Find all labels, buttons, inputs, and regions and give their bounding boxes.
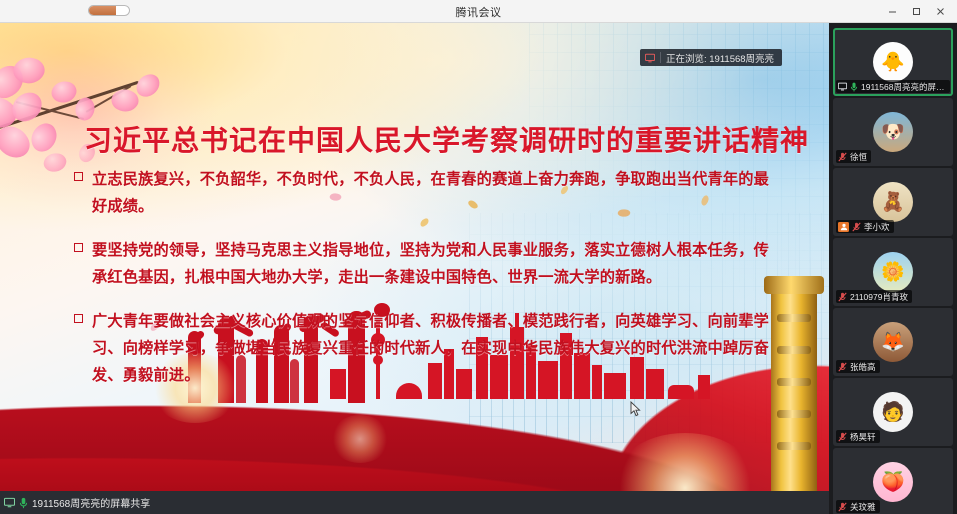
participant-tile[interactable]: 🧸 李小欢 xyxy=(833,168,953,236)
avatar-emoji: 🧸 xyxy=(881,190,905,214)
avatar-emoji: 🍑 xyxy=(881,470,905,494)
participant-tile[interactable]: 🌼 2110979肖青玫 xyxy=(833,238,953,306)
mouse-cursor xyxy=(630,401,641,417)
bottom-taskbar: 1911568周亮亮的屏幕共享 xyxy=(0,491,829,514)
participant-tile[interactable]: 🍑 关玟雅 xyxy=(833,448,953,514)
participant-name: 杨昊轩 xyxy=(850,431,876,443)
avatar-emoji: 🧑 xyxy=(881,400,905,424)
screen-share-icon xyxy=(4,497,15,508)
participant-tile[interactable]: 🦊 张皓高 xyxy=(833,308,953,376)
participant-name: 李小欢 xyxy=(864,221,890,233)
participant-label: 徐恒 xyxy=(836,150,871,163)
maximize-button[interactable] xyxy=(905,1,927,22)
avatar: 🧑 xyxy=(873,392,913,432)
host-badge-icon xyxy=(838,222,849,232)
avatar: 🧸 xyxy=(873,182,913,222)
participant-label: 1911568周亮亮的屏幕共享 xyxy=(836,80,950,93)
mic-muted-icon xyxy=(838,292,847,302)
avatar: 🐥 xyxy=(873,42,913,82)
participant-name: 关玟雅 xyxy=(850,501,876,513)
slide-bullet-text: 要坚持党的领导，坚持马克思主义指导地位，坚持为党和人民事业服务，落实立德树人根本… xyxy=(92,237,780,291)
participant-tile[interactable]: 🐶 徐恒 xyxy=(833,98,953,166)
slide-title: 习近平总书记在中国人民大学考察调研时的重要讲话精神 xyxy=(84,119,784,159)
participant-tile[interactable]: 🧑 杨昊轩 xyxy=(833,378,953,446)
bullet-marker-icon xyxy=(74,243,83,252)
share-status-banner: 正在浏览: 1911568周亮亮 xyxy=(640,49,782,66)
avatar-emoji: 🐶 xyxy=(881,120,905,144)
participant-name: 2110979肖青玫 xyxy=(850,291,908,303)
mic-muted-icon xyxy=(838,432,847,442)
close-button[interactable] xyxy=(929,1,951,22)
mic-on-icon xyxy=(19,497,28,509)
light-glow-decoration xyxy=(330,415,390,463)
avatar: 🦊 xyxy=(873,322,913,362)
bullet-marker-icon xyxy=(74,172,83,181)
avatar: 🌼 xyxy=(873,252,913,292)
taskbar-item-label: 1911568周亮亮的屏幕共享 xyxy=(32,495,150,510)
banner-divider xyxy=(660,52,661,63)
slide-bullet-item: 立志民族复兴，不负韶华，不负时代，不负人民，在青春的赛道上奋力奔跑，争取跑出当代… xyxy=(74,166,780,220)
slide-bullet-text: 广大青年要做社会主义核心价值观的坚定信仰者、积极传播者、模范践行者，向英雄学习、… xyxy=(92,308,780,389)
participant-tile[interactable]: 🐥 1911568周亮亮的屏幕共享 xyxy=(833,28,953,96)
participant-label: 张皓高 xyxy=(836,360,880,373)
window-title: 腾讯会议 xyxy=(0,4,957,20)
participant-label: 2110979肖青玫 xyxy=(836,290,912,303)
window-controls xyxy=(881,0,951,23)
mic-muted-icon xyxy=(852,222,861,232)
mic-muted-icon xyxy=(838,362,847,372)
taskbar-screen-share-item[interactable]: 1911568周亮亮的屏幕共享 xyxy=(0,491,158,514)
avatar-emoji: 🌼 xyxy=(881,260,905,284)
avatar-emoji: 🐥 xyxy=(881,50,905,74)
screen-share-icon xyxy=(838,82,847,91)
avatar-emoji: 🦊 xyxy=(881,330,905,354)
participant-name: 张皓高 xyxy=(850,361,876,373)
participant-label: 关玟雅 xyxy=(836,500,880,513)
mic-on-icon xyxy=(850,82,858,92)
presentation-slide: 习近平总书记在中国人民大学考察调研时的重要讲话精神 立志民族复兴，不负韶华，不负… xyxy=(0,23,829,491)
avatar: 🐶 xyxy=(873,112,913,152)
bullet-marker-icon xyxy=(74,314,83,323)
minimize-button[interactable] xyxy=(881,1,903,22)
slide-bullet-item: 要坚持党的领导，坚持马克思主义指导地位，坚持为党和人民事业服务，落实立德树人根本… xyxy=(74,237,780,291)
share-status-text: 正在浏览: 1911568周亮亮 xyxy=(666,51,774,65)
shared-screen-stage[interactable]: 习近平总书记在中国人民大学考察调研时的重要讲话精神 立志民族复兴，不负韶华，不负… xyxy=(0,23,829,491)
participant-label: 杨昊轩 xyxy=(836,430,880,443)
screen-share-icon xyxy=(645,53,655,63)
slide-bullet-text: 立志民族复兴，不负韶华，不负时代，不负人民，在青春的赛道上奋力奔跑，争取跑出当代… xyxy=(92,166,780,220)
avatar: 🍑 xyxy=(873,462,913,502)
participant-label: 李小欢 xyxy=(836,220,894,233)
window-titlebar: 腾讯会议 xyxy=(0,0,957,23)
mic-muted-icon xyxy=(838,502,847,512)
mic-muted-icon xyxy=(838,152,847,162)
tencent-meeting-window: 腾讯会议 xyxy=(0,0,957,514)
participant-name: 徐恒 xyxy=(850,151,867,163)
slide-bullet-list: 立志民族复兴，不负韶华，不负时代，不负人民，在青春的赛道上奋力奔跑，争取跑出当代… xyxy=(74,166,780,406)
slide-bullet-item: 广大青年要做社会主义核心价值观的坚定信仰者、积极传播者、模范践行者，向英雄学习、… xyxy=(74,308,780,389)
participant-name: 1911568周亮亮的屏幕共享 xyxy=(861,81,946,93)
participant-rail[interactable]: 🐥 1911568周亮亮的屏幕共享 🐶 徐恒 xyxy=(829,23,957,491)
